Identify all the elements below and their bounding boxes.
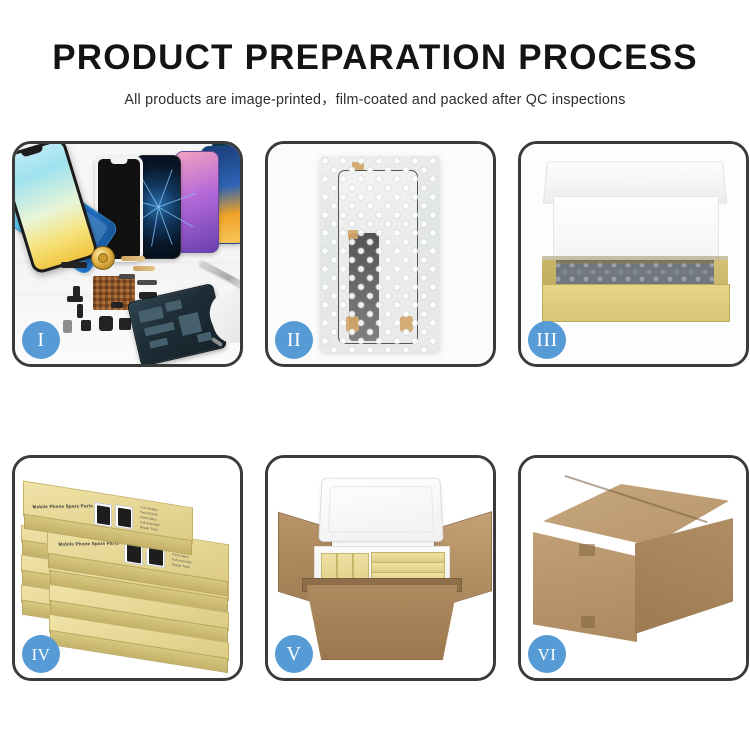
process-step-panel-1: I bbox=[12, 141, 243, 367]
process-step-panel-5: V bbox=[265, 455, 496, 681]
tape-patch-icon bbox=[581, 616, 595, 628]
process-step-panel-4: Mobile Phone Spare Parts LCD Display Tou… bbox=[12, 455, 243, 681]
carton-body-icon bbox=[306, 584, 458, 660]
bubble-wrap-bag-icon bbox=[320, 156, 440, 352]
product-preparation-process-page: PRODUCT PREPARATION PROCESS All products… bbox=[0, 0, 750, 750]
part-camera-icon bbox=[63, 320, 72, 333]
box-label-title: Mobile Phone Spare Parts bbox=[32, 503, 93, 509]
part-chip-icon bbox=[137, 280, 157, 285]
part-module-icon bbox=[99, 316, 113, 331]
phone-purple-icon bbox=[175, 151, 219, 253]
step-badge-6: VI bbox=[528, 635, 566, 673]
flex-cable-icon bbox=[121, 256, 145, 261]
step-badge-3: III bbox=[528, 321, 566, 359]
step-badge-5: V bbox=[275, 635, 313, 673]
part-strip-icon bbox=[61, 262, 87, 268]
part-connector-icon bbox=[67, 296, 83, 302]
page-title: PRODUCT PREPARATION PROCESS bbox=[0, 40, 750, 77]
tape-patch-icon bbox=[579, 544, 595, 556]
flex-cable-icon bbox=[133, 266, 155, 271]
process-step-grid: I II bbox=[12, 141, 738, 681]
part-chip-icon bbox=[111, 302, 123, 308]
box-feature-list: LCD Display Touch Panel Front Glass Full… bbox=[140, 505, 160, 533]
speaker-coil-part-icon bbox=[91, 246, 115, 270]
step-badge-1: I bbox=[22, 321, 60, 359]
styrofoam-lid-icon bbox=[318, 478, 443, 542]
process-step-panel-2: II bbox=[265, 141, 496, 367]
part-chip-icon bbox=[119, 274, 135, 279]
process-step-panel-3: III bbox=[518, 141, 749, 367]
part-connector-icon bbox=[77, 304, 83, 318]
kraft-box-front-icon bbox=[542, 284, 730, 322]
page-subtitle: All products are image-printed，film-coat… bbox=[0, 88, 750, 109]
part-button-icon bbox=[81, 320, 91, 331]
step-badge-4: IV bbox=[22, 635, 60, 673]
page-header: PRODUCT PREPARATION PROCESS All products… bbox=[0, 0, 750, 109]
foam-sheet-icon bbox=[553, 196, 719, 264]
step-badge-2: II bbox=[275, 321, 313, 359]
part-module-icon bbox=[119, 318, 131, 330]
process-step-panel-6: VI bbox=[518, 455, 749, 681]
